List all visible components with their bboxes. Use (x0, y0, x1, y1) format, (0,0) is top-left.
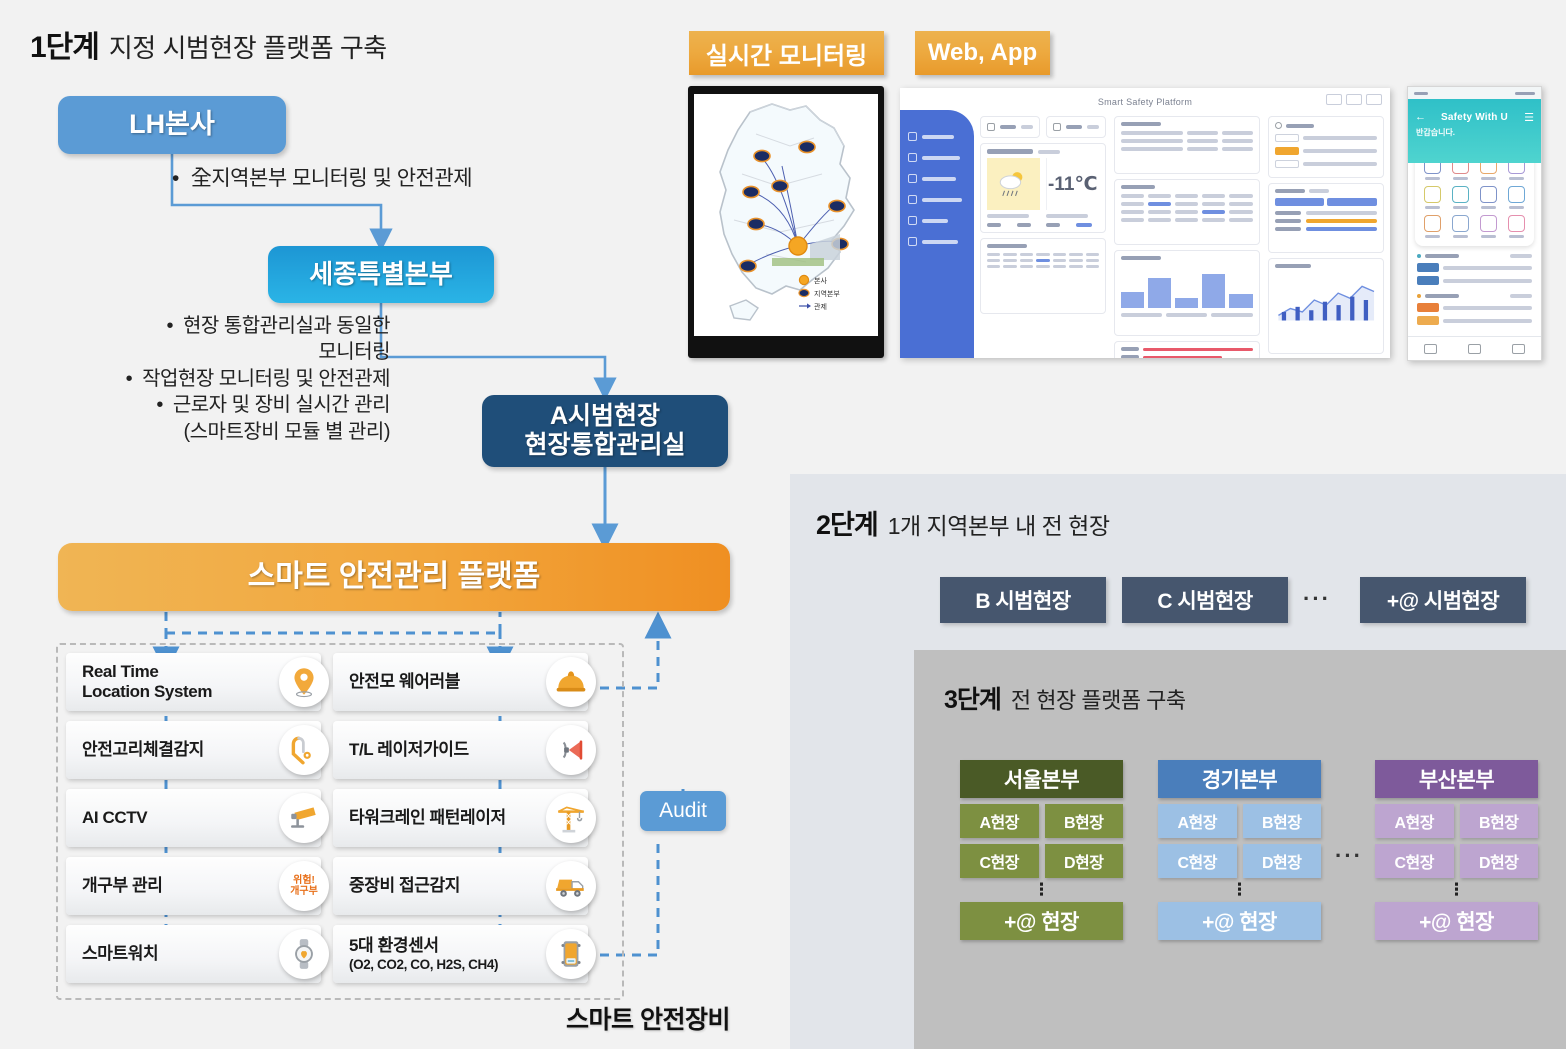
phone-header: ← ☰ Safety With U 반갑습니다. (1408, 99, 1541, 163)
realtime-monitoring-tag: 실시간 모니터링 (689, 31, 884, 75)
regional-hq-header[interactable]: 부산본부 (1375, 760, 1538, 798)
equipment-item-env-sensors[interactable]: 5대 환경센서 (O2, CO2, CO, H2S, CH4) (333, 925, 588, 983)
smart-equipment-caption: 스마트 안전장비 (566, 1000, 730, 1036)
list-item: 작업현장 모니터링 및 안전관제 (10, 366, 390, 392)
web-app-tag: Web, App (915, 31, 1050, 75)
dashboard-status-card[interactable] (1268, 183, 1384, 253)
equipment-item-tower-crane-laser[interactable]: 타워크레인 패턴레이저 (333, 789, 588, 847)
equipment-item-rtls[interactable]: Real Time Location System (66, 653, 321, 711)
site-cell[interactable]: C현장 (1158, 844, 1237, 878)
equipment-item-smartwatch[interactable]: 스마트워치 (66, 925, 321, 983)
equipment-label: T/L 레이저가이드 (349, 740, 469, 760)
equipment-item-helmet-wearable[interactable]: 안전모 웨어러블 (333, 653, 588, 711)
equipment-item-opening-mgmt[interactable]: 개구부 관리 위험! 개구부 (66, 857, 321, 915)
stage3-ellipsis: ··· (1335, 843, 1363, 869)
stage2-number: 2단계 (816, 503, 878, 542)
site-plus-more[interactable]: +@ 현장 (1158, 902, 1321, 940)
phone-app-title: Safety With U (1408, 99, 1541, 123)
smart-equipment-grid: Real Time Location System 안전모 웨어러블 안전고리체… (66, 653, 618, 990)
phone-menu-item[interactable] (1504, 215, 1530, 238)
site-row: C현장 D현장 (1375, 844, 1538, 878)
sejong-branch-box[interactable]: 세종특별본부 (268, 246, 494, 303)
lh-bullet-list: 全지역본부 모니터링 및 안전관제 (172, 165, 472, 193)
sidebar-item[interactable] (900, 231, 974, 252)
sidebar-item[interactable] (900, 147, 974, 168)
phone-menu-item[interactable] (1476, 215, 1502, 238)
pilot-site-label: C 시범현장 (1157, 585, 1252, 615)
equipment-item-heavy-equipment-proximity[interactable]: 중장비 접근감지 (333, 857, 588, 915)
a-pilot-site-line1: A시범현장 (550, 402, 660, 432)
list-item: (스마트장비 모듈 별 관리) (10, 419, 390, 445)
korea-map-panel: 본사 지역본부 관제 (688, 86, 884, 358)
location-pin-icon (279, 657, 329, 707)
map-legend-region: 지역본부 (814, 289, 840, 298)
phone-menu-item[interactable] (1419, 186, 1445, 209)
infographic-root: 1단계 지정 시범현장 플랫폼 구축 LH본사 全지역본부 모니터링 및 안전관… (0, 0, 1566, 1049)
site-cell[interactable]: B현장 (1243, 804, 1322, 838)
phone-menu-item[interactable] (1504, 186, 1530, 209)
equipment-label: 5대 환경센서 (349, 936, 498, 956)
regional-hq-column-busan: 부산본부 A현장 B현장 C현장 D현장 ⋮ +@ 현장 (1375, 760, 1538, 940)
phone-menu-item[interactable] (1447, 186, 1473, 209)
phone-bottom-nav[interactable] (1408, 336, 1541, 360)
back-arrow-icon[interactable]: ← (1415, 111, 1426, 123)
stage1-subtitle: 지정 시범현장 플랫폼 구축 (109, 28, 387, 65)
regional-hq-header[interactable]: 서울본부 (960, 760, 1123, 798)
site-row: A현장 B현장 (960, 804, 1123, 838)
site-cell[interactable]: D현장 (1045, 844, 1124, 878)
dashboard-weather-card: -11℃ (980, 143, 1106, 233)
stage1-heading: 1단계 지정 시범현장 플랫폼 구축 (30, 22, 387, 66)
dump-truck-icon (546, 861, 596, 911)
dashboard-table-card[interactable] (1114, 179, 1260, 245)
dashboard-notice-card[interactable] (1268, 116, 1384, 178)
list-item: 현장 통합관리실과 동일한 (10, 313, 390, 339)
site-cell[interactable]: C현장 (1375, 844, 1454, 878)
sejong-bullet-list: 현장 통합관리실과 동일한 모니터링 작업현장 모니터링 및 안전관제 근로자 … (10, 313, 390, 445)
list-item: 모니터링 (10, 339, 390, 365)
audit-label: Audit (659, 799, 707, 823)
dashboard-area-chart-card[interactable] (1268, 258, 1384, 354)
site-vertical-ellipsis: ⋮ (960, 878, 1123, 902)
equipment-label: 타워크레인 패턴레이저 (349, 808, 506, 828)
equipment-sublabel: (O2, CO2, CO, H2S, CH4) (349, 957, 498, 972)
dashboard-bar-chart-card[interactable] (1114, 250, 1260, 336)
danger-opening-icon: 위험! 개구부 (279, 861, 329, 911)
site-row: C현장 D현장 (1158, 844, 1321, 878)
site-plus-more[interactable]: +@ 현장 (960, 902, 1123, 940)
pilot-site-label: B 시범현장 (975, 585, 1070, 615)
site-row: A현장 B현장 (1158, 804, 1321, 838)
pilot-site-badge-b[interactable]: B 시범현장 (940, 577, 1106, 623)
site-row: A현장 B현장 (1375, 804, 1538, 838)
nav-menu-icon[interactable] (1512, 344, 1525, 354)
a-pilot-site-line2: 현장통합관리실 (524, 431, 685, 461)
regional-hq-header[interactable]: 경기본부 (1158, 760, 1321, 798)
equipment-label: 안전고리체결감지 (82, 740, 204, 760)
stage1-number: 1단계 (30, 22, 99, 66)
site-cell[interactable]: B현장 (1460, 804, 1539, 838)
equipment-label: AI CCTV (82, 808, 147, 828)
regional-hq-column-gyeonggi: 경기본부 A현장 B현장 C현장 D현장 ⋮ +@ 현장 (1158, 760, 1321, 940)
sidebar-item[interactable] (900, 168, 974, 189)
audit-button[interactable]: Audit (640, 791, 726, 831)
dashboard-sidebar[interactable] (900, 110, 974, 358)
dashboard-panel: Smart Safety Platform (900, 88, 1390, 358)
equipment-label: 스마트워치 (82, 944, 158, 964)
realtime-monitoring-label: 실시간 모니터링 (706, 36, 867, 71)
equipment-label: 개구부 관리 (82, 876, 163, 896)
danger-opening-text: 위험! 개구부 (290, 875, 318, 898)
pilot-site-badge-plus[interactable]: +@ 시범현장 (1360, 577, 1526, 623)
korea-map-svg: 본사 지역본부 관제 (694, 94, 878, 336)
equipment-label: 안전모 웨어러블 (349, 672, 460, 692)
dashboard-calendar-card[interactable] (980, 238, 1106, 314)
stage3-subtitle: 전 현장 플랫폼 구축 (1011, 683, 1186, 715)
stage3-number: 3단계 (944, 680, 1001, 716)
smart-safety-platform-label: 스마트 안전관리 플랫폼 (248, 559, 541, 594)
equipment-item-laser-guide[interactable]: T/L 레이저가이드 (333, 721, 588, 779)
phone-statusbar (1408, 87, 1541, 99)
phone-greeting: 반갑습니다. (1408, 123, 1541, 138)
equipment-label: Real Time Location System (82, 662, 212, 703)
smartwatch-icon (279, 929, 329, 979)
sidebar-item[interactable] (900, 189, 974, 210)
phone-section-alerts (1408, 285, 1541, 325)
phone-menu-item[interactable] (1447, 215, 1473, 238)
dashboard-title: Smart Safety Platform (900, 88, 1390, 107)
mobile-app-panel: ← ☰ Safety With U 반갑습니다. (1407, 86, 1542, 361)
stage2-heading: 2단계 1개 지역본부 내 전 현장 (816, 503, 1110, 542)
site-plus-more[interactable]: +@ 현장 (1375, 902, 1538, 940)
nav-home-icon[interactable] (1468, 344, 1481, 354)
sidebar-item[interactable] (900, 126, 974, 147)
site-cell[interactable]: A현장 (1375, 804, 1454, 838)
pilot-site-badge-c[interactable]: C 시범현장 (1122, 577, 1288, 623)
dashboard-list-card[interactable] (1114, 116, 1260, 174)
site-vertical-ellipsis: ⋮ (1375, 878, 1538, 902)
korea-map-screen: 본사 지역본부 관제 (694, 94, 878, 336)
stage3-heading: 3단계 전 현장 플랫폼 구축 (944, 680, 1186, 716)
web-app-label: Web, App (928, 39, 1037, 67)
sidebar-item[interactable] (900, 210, 974, 231)
tower-crane-icon (546, 793, 596, 843)
nav-list-icon[interactable] (1424, 344, 1437, 354)
phone-menu-item[interactable] (1476, 186, 1502, 209)
lh-headquarters-label: LH본사 (129, 109, 215, 141)
lh-headquarters-box[interactable]: LH본사 (58, 96, 286, 154)
hard-hat-icon (546, 657, 596, 707)
safety-hook-icon (279, 725, 329, 775)
phone-menu-item[interactable] (1419, 215, 1445, 238)
sejong-branch-label: 세종특별본부 (309, 259, 453, 290)
equipment-item-hook-detect[interactable]: 안전고리체결감지 (66, 721, 321, 779)
phone-menu-grid[interactable] (1415, 149, 1534, 246)
a-pilot-site-box[interactable]: A시범현장 현장통합관리실 (482, 395, 728, 467)
list-item: 全지역본부 모니터링 및 안전관제 (172, 165, 472, 193)
site-cell[interactable]: C현장 (960, 844, 1039, 878)
pilot-site-label: +@ 시범현장 (1387, 585, 1499, 615)
dashboard-temperature: -11℃ (1048, 173, 1097, 196)
site-cell[interactable]: D현장 (1460, 844, 1539, 878)
site-cell[interactable]: A현장 (1158, 804, 1237, 838)
phone-section-today (1408, 246, 1541, 285)
stage2-ellipsis: ··· (1303, 586, 1331, 612)
dashboard-topbar-icons (1326, 94, 1382, 105)
site-cell[interactable]: A현장 (960, 804, 1039, 838)
site-vertical-ellipsis: ⋮ (1158, 878, 1321, 902)
weather-rain-icon (996, 167, 1030, 201)
site-cell[interactable]: B현장 (1045, 804, 1124, 838)
list-item: 근로자 및 장비 실시간 관리 (10, 392, 390, 418)
laser-beam-icon (546, 725, 596, 775)
regional-hq-column-seoul: 서울본부 A현장 B현장 C현장 D현장 ⋮ +@ 현장 (960, 760, 1123, 940)
site-row: C현장 D현장 (960, 844, 1123, 878)
equipment-label: 중장비 접근감지 (349, 876, 460, 896)
cctv-camera-icon (279, 793, 329, 843)
smart-safety-platform-banner[interactable]: 스마트 안전관리 플랫폼 (58, 543, 730, 611)
gas-sensor-icon (546, 929, 596, 979)
dashboard-main: -11℃ (980, 116, 1384, 354)
dashboard-progress-card[interactable] (1114, 341, 1260, 358)
dashboard-area-chart (1275, 274, 1377, 326)
map-legend-hq: 본사 (814, 276, 827, 285)
equipment-item-ai-cctv[interactable]: AI CCTV (66, 789, 321, 847)
stage2-subtitle: 1개 지역본부 내 전 현장 (888, 507, 1110, 541)
dashboard-stat-card[interactable] (1046, 116, 1106, 138)
map-legend-control: 관제 (814, 302, 827, 311)
dashboard-stat-card[interactable] (980, 116, 1040, 138)
site-cell[interactable]: D현장 (1243, 844, 1322, 878)
